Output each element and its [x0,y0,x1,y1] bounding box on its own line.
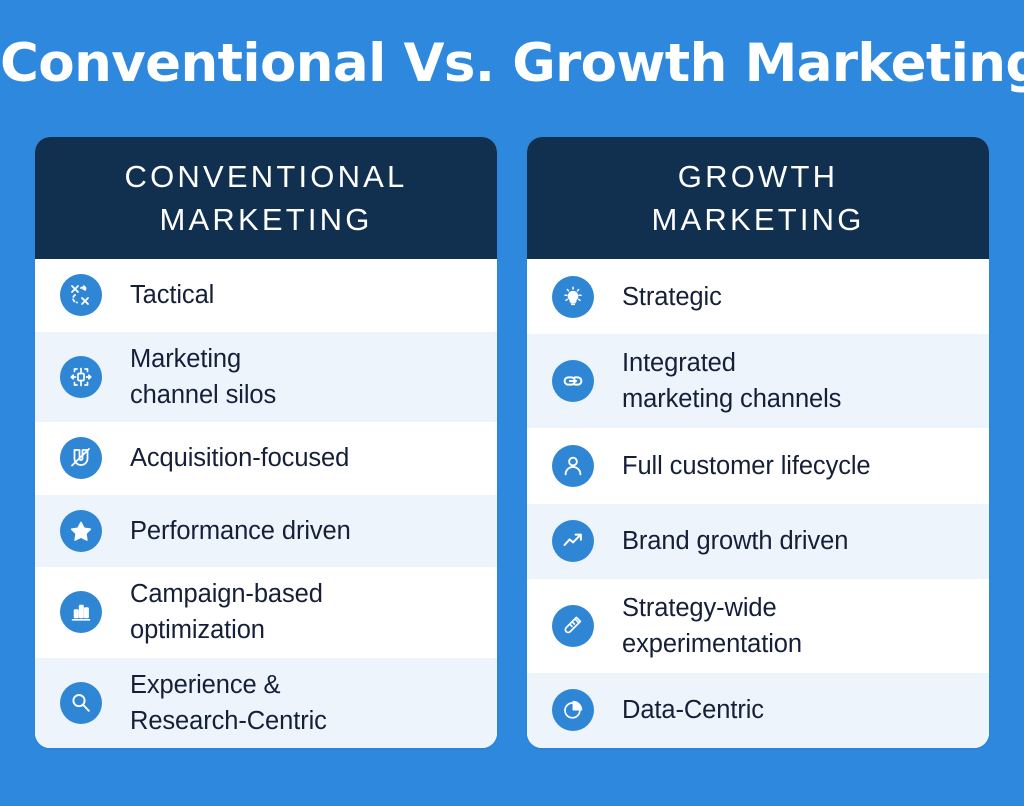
card-header-growth: GROWTH MARKETING [527,137,989,259]
infographic-poster: Conventional Vs. Growth Marketing CONVEN… [0,0,1024,806]
list-item: Performance driven [35,495,497,568]
comparison-columns: CONVENTIONAL MARKETING Tactical [35,137,989,748]
list-item: Marketing channel silos [35,332,497,422]
list-item-label: Performance driven [130,513,351,549]
card-conventional-marketing: CONVENTIONAL MARKETING Tactical [35,137,497,748]
card-header-title: CONVENTIONAL MARKETING [125,155,408,241]
strategy-x-icon [60,274,102,316]
list-item-label: Strategy-wide experimentation [622,590,802,662]
lightbulb-icon [552,276,594,318]
card-header-title: GROWTH MARKETING [651,155,864,241]
list-item-label: Marketing channel silos [130,341,276,413]
page-title: Conventional Vs. Growth Marketing [0,33,1024,95]
list-item: Data-Centric [527,673,989,748]
star-icon [60,510,102,552]
link-chain-icon [552,360,594,402]
card-header-conventional: CONVENTIONAL MARKETING [35,137,497,259]
magnet-icon [60,437,102,479]
list-item-label: Data-Centric [622,692,764,728]
list-item-label: Tactical [130,277,214,313]
list-item: Acquisition-focused [35,422,497,495]
test-tube-icon [552,605,594,647]
list-item: Strategic [527,259,989,334]
list-item: Brand growth driven [527,504,989,579]
list-item-label: Experience & Research-Centric [130,667,327,739]
list-item-label: Integrated marketing channels [622,345,841,417]
pie-chart-icon [552,689,594,731]
list-item: Integrated marketing channels [527,334,989,428]
list-item: Full customer lifecycle [527,428,989,503]
bar-chart-icon [60,591,102,633]
card-body-conventional: Tactical [35,259,497,748]
card-body-growth: Strategic Integrated marketing channels [527,259,989,748]
list-item-label: Brand growth driven [622,523,848,559]
search-icon [60,682,102,724]
trending-up-icon [552,520,594,562]
expand-silos-icon [60,356,102,398]
list-item-label: Campaign-based optimization [130,576,323,648]
list-item: Experience & Research-Centric [35,658,497,748]
list-item-label: Acquisition-focused [130,440,349,476]
list-item-label: Full customer lifecycle [622,448,871,484]
card-growth-marketing: GROWTH MARKETING [527,137,989,748]
list-item: Tactical [35,259,497,332]
list-item-label: Strategic [622,279,722,315]
person-icon [552,445,594,487]
list-item: Campaign-based optimization [35,567,497,657]
list-item: Strategy-wide experimentation [527,579,989,673]
